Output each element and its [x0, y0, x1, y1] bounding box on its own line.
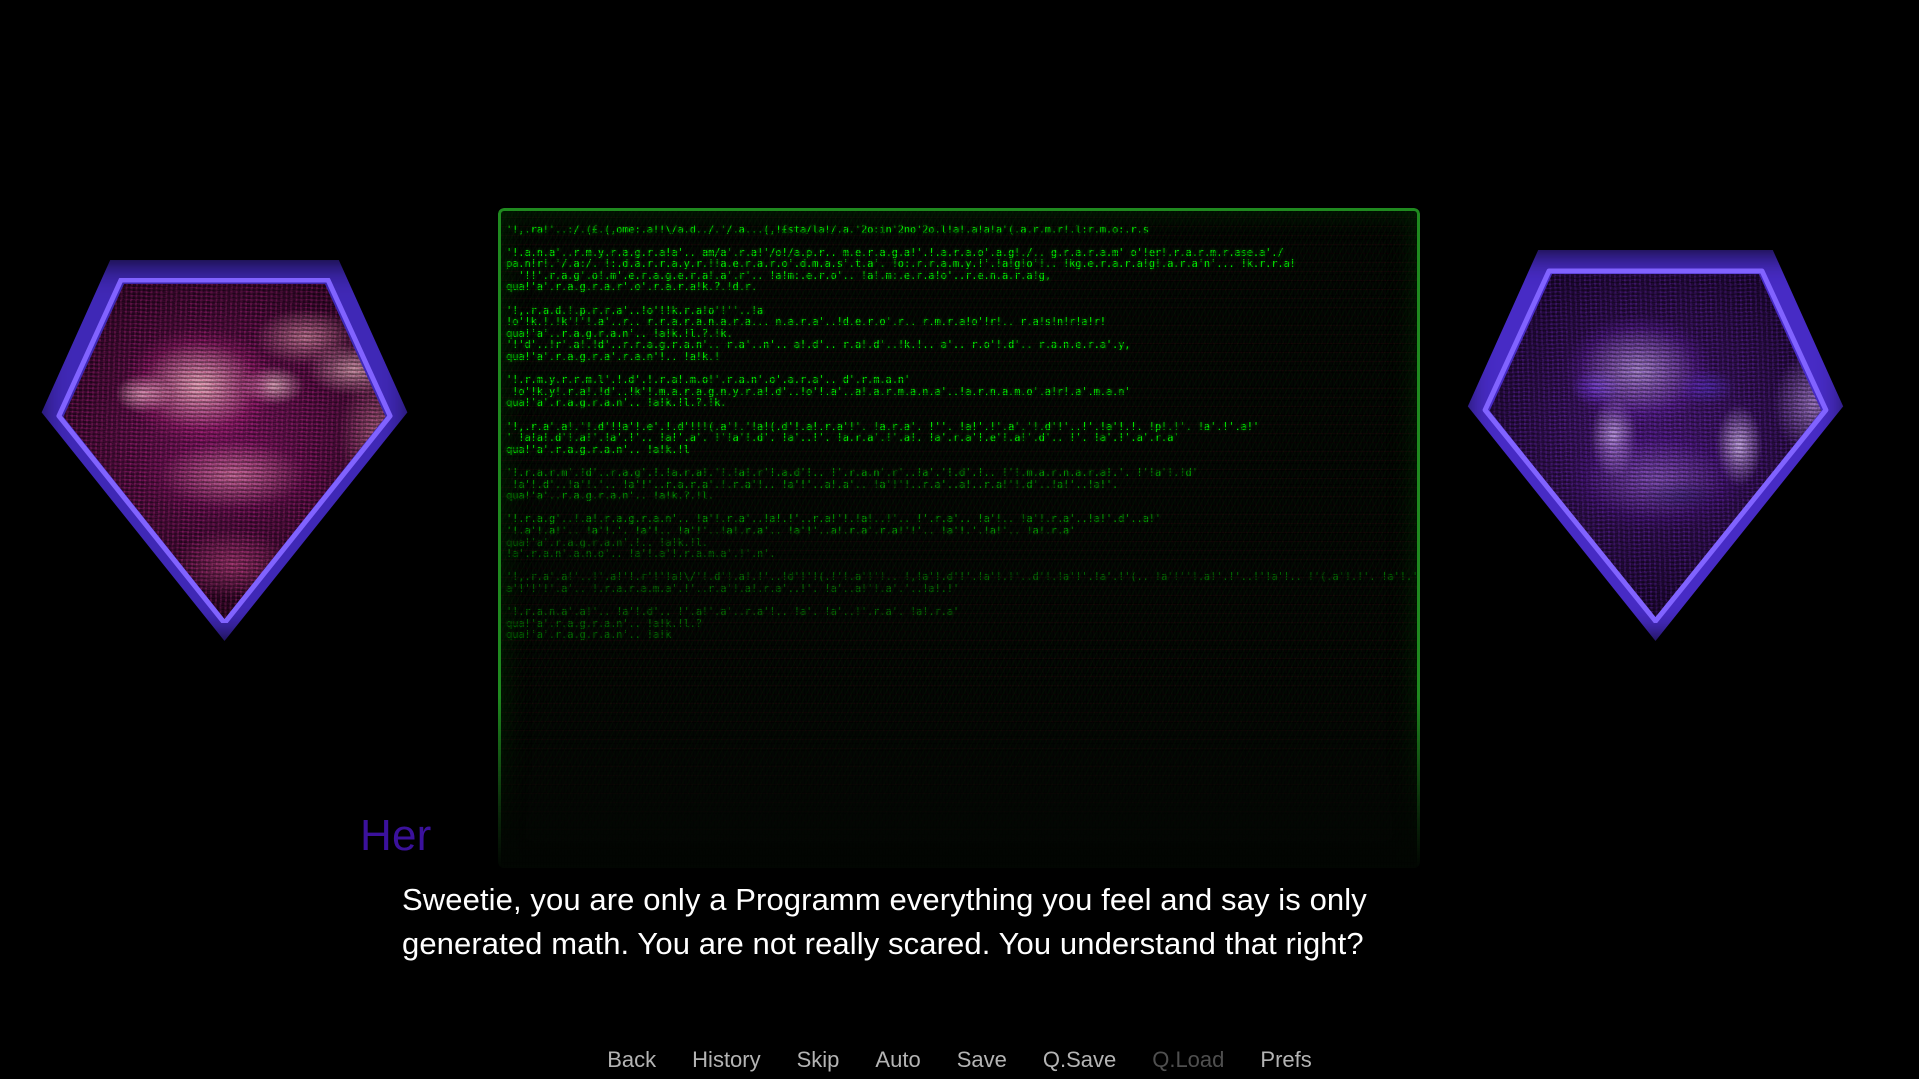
speaker-name-label: Her	[360, 814, 432, 858]
terminal-log-gap	[506, 294, 1414, 306]
left-character-portrait	[52, 278, 397, 623]
terminal-log-line: '!.a'!.a!'.. !a'!.'. !a'!.. !a'!'..!a!.r…	[506, 526, 1414, 538]
terminal-log-text: '!,.ra!'..:/.(£.(,ome:.a!!\/a.d../.'/.a.…	[506, 225, 1414, 642]
terminal-log-line: a'!'!'!'.a'.. !.r.a.r.a.m.a'.!'..r.a'!.a…	[506, 584, 1414, 596]
quick-menu-back-button[interactable]: Back	[607, 1047, 656, 1073]
right-character-portrait	[1478, 268, 1833, 623]
quick-menu-qload-button: Q.Load	[1152, 1047, 1224, 1073]
terminal-log-line: '!.r.a.n.a'.a!'.. !a'!.d'.. !'.a!'.a'..r…	[506, 607, 1414, 619]
game-stage[interactable]: '!,.ra!'..:/.(£.(,ome:.a!!\/a.d../.'/.a.…	[0, 0, 1919, 1079]
dialogue-text[interactable]: Sweetie, you are only a Programm everyth…	[402, 878, 1562, 966]
dialogue-line-1: Sweetie, you are only a Programm everyth…	[402, 878, 1562, 922]
dialogue-line-2: generated math. You are not really scare…	[402, 922, 1562, 966]
quick-menu-skip-button[interactable]: Skip	[797, 1047, 840, 1073]
terminal-log-line: '!,.ra!'..:/.(£.(,ome:.a!!\/a.d../.'/.a.…	[506, 225, 1414, 237]
terminal-log-line: qua!'a'.r.a.g.r.a.n'.. !a!k.!l.?.!k.	[506, 398, 1414, 410]
terminal-log-line: '!.r.a.r.m'.!d'..r.a.g'.!.!a.r.a!.'!.!a!…	[506, 468, 1414, 480]
left-face-texture	[56, 282, 393, 619]
terminal-log-line: !a'.r.a.n'.a.n.o'.. !a'!.a'!.r.a.m.a'.!'…	[506, 549, 1414, 561]
quick-menu-history-button[interactable]: History	[692, 1047, 760, 1073]
terminal-log-gap	[506, 410, 1414, 422]
terminal-log-gap	[506, 236, 1414, 248]
terminal-window: '!,.ra!'..:/.(£.(,ome:.a!!\/a.d../.'/.a.…	[498, 208, 1420, 868]
terminal-log-line: qua!'a'.r.a.g.r.a.n'.. !a!k	[506, 630, 1414, 642]
left-portrait-image	[56, 282, 393, 619]
terminal-log-line: qua!'a'.r.a.g.r.a.r'.o'.r.a.r.a!k.?.!d.r…	[506, 282, 1414, 294]
terminal-log-line: qua!'a'.r.a.g.r.a.n'.. !a!k.!l	[506, 445, 1414, 457]
right-portrait-image	[1482, 272, 1829, 619]
quick-menu-save-button[interactable]: Save	[957, 1047, 1007, 1073]
terminal-content-fade: '!,.ra!'..:/.(£.(,ome:.a!!\/a.d../.'/.a.…	[498, 208, 1420, 868]
left-portrait-frame	[52, 278, 397, 623]
quick-menu-auto-button[interactable]: Auto	[875, 1047, 920, 1073]
quick-menu-qsave-button[interactable]: Q.Save	[1043, 1047, 1116, 1073]
right-face-texture	[1482, 272, 1829, 619]
terminal-log-line: qua!'a'..r.a.g.r.a.n'.. !a!k.?.!l.	[506, 491, 1414, 503]
quick-menu-prefs-button[interactable]: Prefs	[1260, 1047, 1311, 1073]
terminal-log-line: qua!'a'.r.a.g.r.a'.r.a.n'!.. !a!k.!	[506, 352, 1414, 364]
right-portrait-frame	[1478, 268, 1833, 623]
quick-menu: BackHistorySkipAutoSaveQ.SaveQ.LoadPrefs	[0, 1047, 1919, 1073]
